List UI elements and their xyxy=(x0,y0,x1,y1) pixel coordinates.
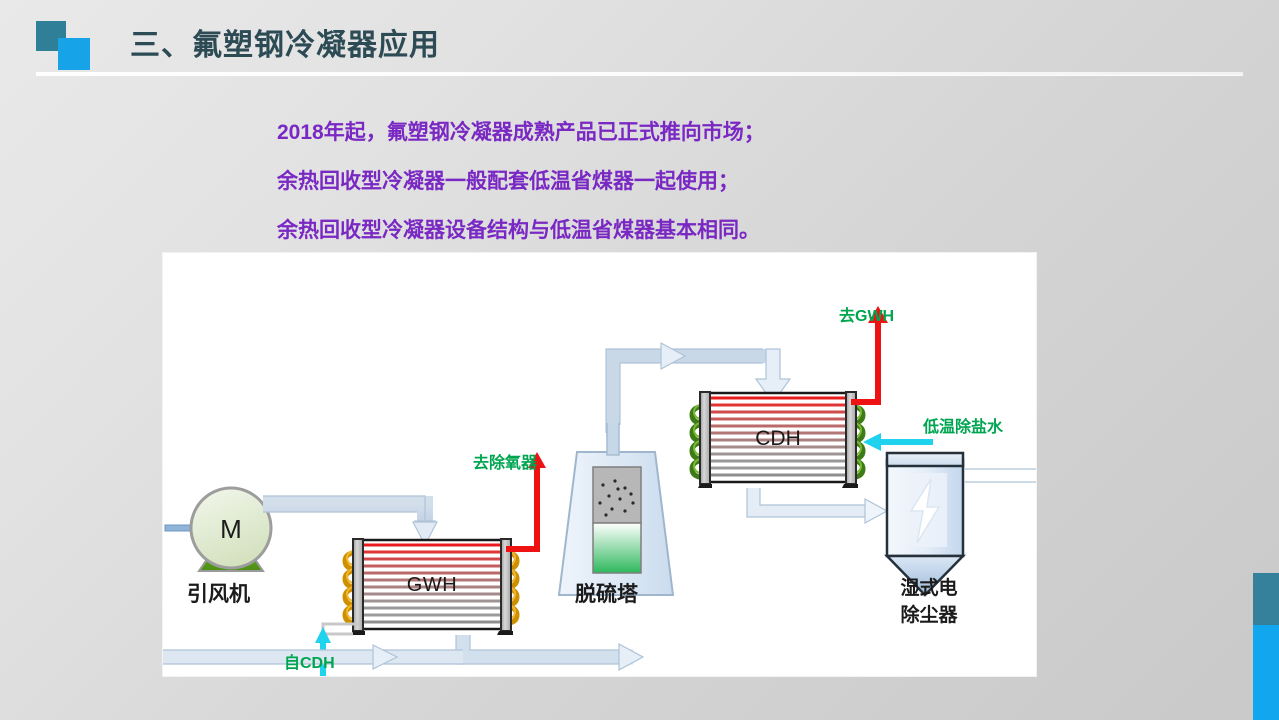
accent-bar-top xyxy=(1253,573,1279,625)
tower-spray-zone xyxy=(593,467,641,523)
body-text-block: 2018年起，氟塑钢冷凝器成熟产品已正式推向市场； 余热回收型冷凝器一般配套低温… xyxy=(277,108,1077,255)
label-gwh-outlet: 去除氧器 xyxy=(473,449,537,473)
desulfurization-tower xyxy=(559,413,673,595)
accent-bar-bottom xyxy=(1253,625,1279,720)
svg-text:M: M xyxy=(220,514,242,544)
tower-liquid-level xyxy=(593,523,641,573)
decor-square-bright-icon xyxy=(58,38,90,70)
label-wet-esp: 湿式电 除尘器 xyxy=(879,575,979,629)
label-cdh-water-inlet: 低温除盐水 xyxy=(923,413,1003,437)
body-line-3: 余热回收型冷凝器设备结构与低温省煤器基本相同。 xyxy=(277,206,1077,255)
title-divider xyxy=(36,72,1243,75)
esp-cap xyxy=(887,453,963,466)
body-line-1: 2018年起，氟塑钢冷凝器成熟产品已正式推向市场； xyxy=(277,108,1077,157)
process-diagram-panel: M xyxy=(163,253,1036,676)
label-wet-esp-line2: 除尘器 xyxy=(879,602,979,629)
label-cdh-outlet: 去GWH xyxy=(839,302,894,326)
label-induced-draft-fan: 引风机 xyxy=(187,578,250,608)
gwh-label: GWH xyxy=(407,574,457,596)
duct-cdh-to-esp xyxy=(747,488,887,523)
duct-fan-to-gwh xyxy=(263,496,437,545)
body-line-2: 余热回收型冷凝器一般配套低温省煤器一起使用； xyxy=(277,157,1077,206)
induced-draft-fan: M xyxy=(191,488,271,571)
label-desulfurization-tower: 脱硫塔 xyxy=(575,578,638,608)
gwh-heat-exchanger: GWH xyxy=(345,539,517,635)
label-gwh-water-inlet: 自CDH xyxy=(284,649,335,673)
cdh-heat-exchanger: CDH xyxy=(692,392,863,488)
slide-root: 三、氟塑钢冷凝器应用 2018年起，氟塑钢冷凝器成熟产品已正式推向市场； 余热回… xyxy=(0,0,1279,720)
cdh-label: CDH xyxy=(755,427,801,450)
esp-outlet-pipe xyxy=(965,469,1036,482)
label-wet-esp-line1: 湿式电 xyxy=(879,575,979,602)
page-title: 三、氟塑钢冷凝器应用 xyxy=(130,20,440,64)
wet-electrostatic-precipitator xyxy=(887,453,963,595)
